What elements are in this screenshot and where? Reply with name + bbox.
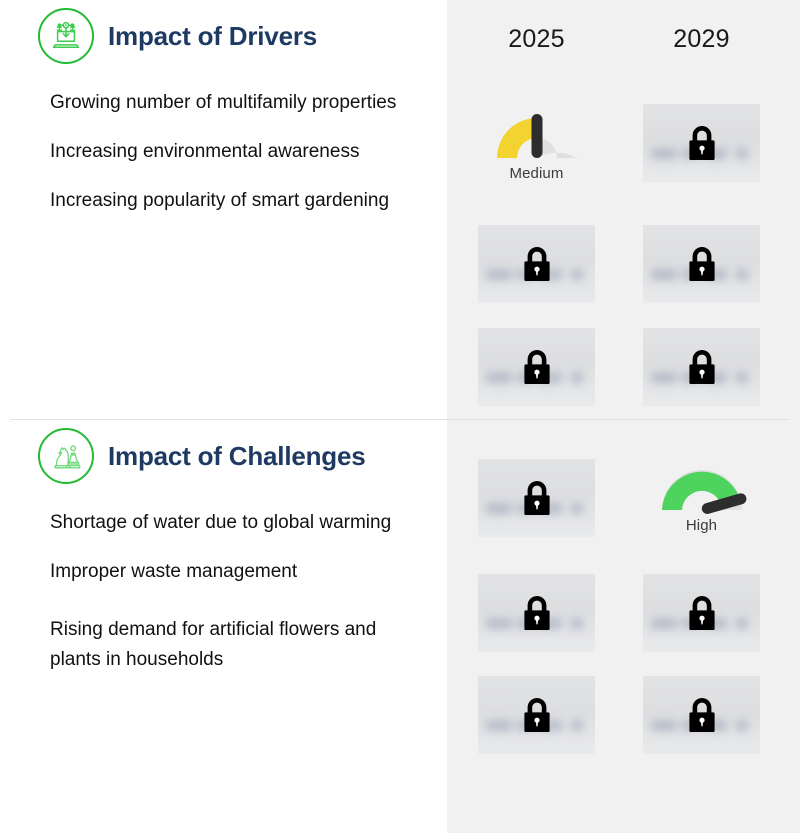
locked-cell[interactable] [643, 574, 760, 652]
section-title-drivers: Impact of Drivers [108, 21, 317, 52]
list-item: Growing number of multifamily properties [50, 88, 405, 118]
lock-icon [643, 347, 760, 387]
list-item: Improper waste management [50, 557, 405, 587]
list-item: Increasing environmental awareness [50, 137, 405, 167]
lock-icon [643, 244, 760, 284]
chess-pieces-icon [49, 439, 83, 473]
gauge-level-label: High [643, 517, 760, 534]
lock-icon [478, 695, 595, 735]
locked-cell[interactable] [643, 225, 760, 303]
locked-cell[interactable] [478, 328, 595, 406]
lock-icon [643, 593, 760, 633]
gauge-dial [489, 110, 585, 162]
column-header-2029: 2029 [643, 25, 760, 54]
lock-icon [478, 478, 595, 518]
gauge-high-2029: High [643, 462, 760, 554]
locked-cell[interactable] [478, 225, 595, 303]
lock-icon [478, 244, 595, 284]
lock-icon [478, 347, 595, 387]
drivers-badge [38, 8, 94, 64]
smart-device-download-icon [49, 19, 83, 53]
section-drivers: Impact of Drivers Growing number of mult… [0, 0, 447, 235]
lock-icon [643, 695, 760, 735]
section-title-challenges: Impact of Challenges [108, 441, 366, 472]
lock-icon [478, 593, 595, 633]
drivers-bullet-list: Growing number of multifamily properties… [0, 72, 447, 216]
gauge-level-label: Medium [478, 165, 595, 182]
locked-cell[interactable] [643, 328, 760, 406]
section-header-drivers: Impact of Drivers [0, 0, 447, 72]
challenges-bullet-list: Shortage of water due to global warming … [0, 492, 447, 675]
locked-cell[interactable] [478, 676, 595, 754]
locked-cell[interactable] [643, 676, 760, 754]
column-header-2025: 2025 [478, 25, 595, 54]
list-item: Rising demand for artificial flowers and… [50, 615, 405, 675]
gauge-dial [654, 462, 750, 514]
gauge-medium-2025: Medium [478, 110, 595, 202]
lock-icon [643, 123, 760, 163]
locked-cell[interactable] [643, 104, 760, 182]
section-challenges: Impact of Challenges Shortage of water d… [0, 420, 447, 694]
locked-cell[interactable] [478, 574, 595, 652]
list-item: Shortage of water due to global warming [50, 508, 405, 538]
section-header-challenges: Impact of Challenges [0, 420, 447, 492]
challenges-badge [38, 428, 94, 484]
locked-cell[interactable] [478, 459, 595, 537]
list-item: Increasing popularity of smart gardening [50, 186, 405, 216]
